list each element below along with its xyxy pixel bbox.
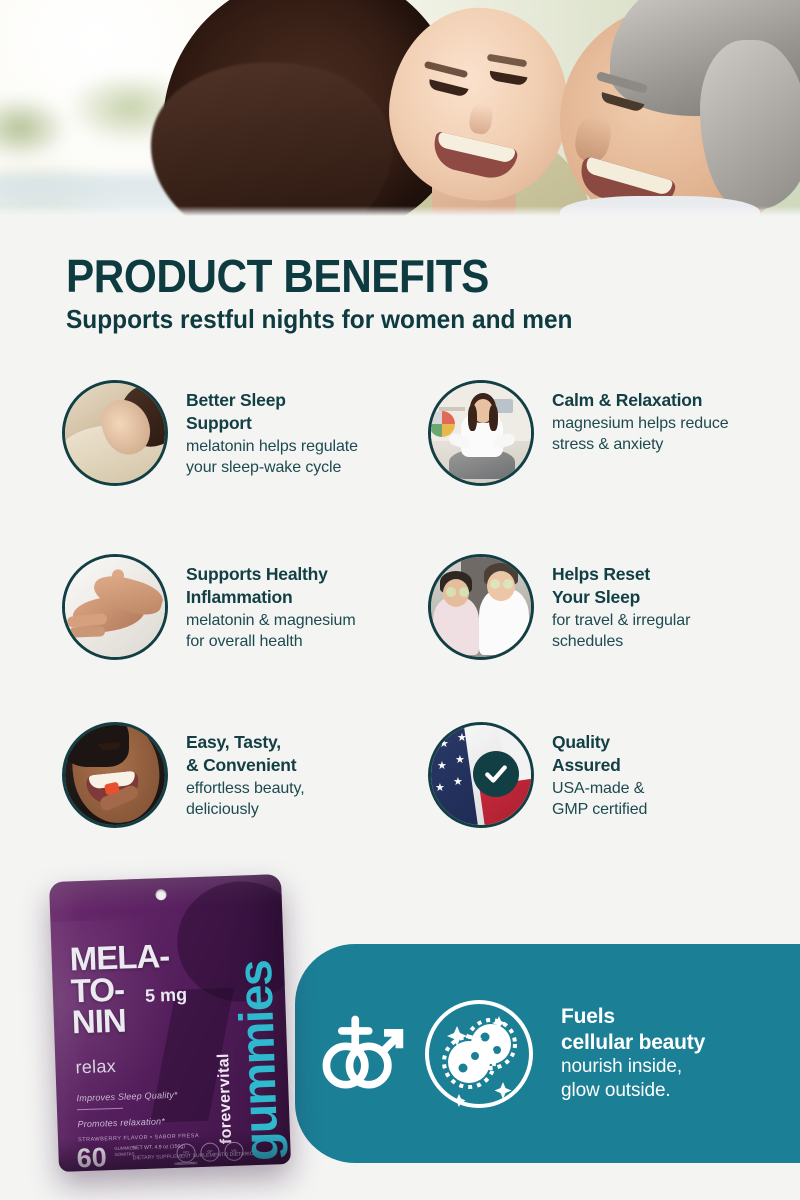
benefits-row-2: Supports Healthy Inflammation melatonin …	[0, 530, 800, 680]
flag-star: ★	[439, 739, 449, 750]
benefit-desc-line-1: for travel & irregular	[552, 610, 690, 631]
cellular-beauty-banner: Fuels cellular beauty nourish inside, gl…	[295, 944, 800, 1163]
flag-star: ★	[453, 777, 463, 788]
product-claim-2: Promotes relaxation*	[77, 1116, 165, 1129]
banner-line-4: glow outside.	[561, 1079, 705, 1103]
benefit-title-line-1: Easy, Tasty,	[186, 731, 305, 754]
melatonin-gummies-pouch: MELA- TO- NIN 5 mg relax Improves Sleep …	[49, 874, 291, 1172]
cucumber-slice-1	[446, 587, 456, 597]
product-benefits-infographic: PRODUCT BENEFITS Supports restful nights…	[0, 0, 800, 1200]
product-descriptor: relax	[75, 1056, 116, 1078]
benefit-title: Supports Healthy Inflammation	[186, 563, 356, 609]
benefit-text-block: Easy, Tasty, & Convenient effortless bea…	[186, 722, 305, 821]
benefit-title: Better Sleep Support	[186, 389, 358, 435]
banner-line-2: cellular beauty	[561, 1030, 705, 1056]
benefit-title-line-1: Better Sleep	[186, 389, 358, 412]
two-women-cucumber-photo	[431, 557, 531, 657]
clasped-hands-photo	[65, 557, 165, 657]
benefits-row-3: Easy, Tasty, & Convenient effortless bea…	[0, 680, 800, 830]
benefit-text-block: Quality Assured USA-made & GMP certified	[552, 722, 647, 821]
hero-bottom-fade	[0, 206, 800, 216]
product-dosage: 5 mg	[145, 984, 188, 1006]
benefit-image-woman-eating-gummy	[62, 722, 168, 828]
benefit-image-meditating-woman	[428, 380, 534, 486]
benefit-text-block: Supports Healthy Inflammation melatonin …	[186, 554, 356, 653]
benefits-row-1: Better Sleep Support melatonin helps reg…	[0, 380, 800, 530]
benefit-title-line-2: Assured	[552, 754, 647, 777]
benefit-image-sleeping-woman	[62, 380, 168, 486]
flag-star: ★	[433, 803, 443, 814]
benefit-image-clasped-hands	[62, 554, 168, 660]
benefit-description: effortless beauty, deliciously	[186, 778, 305, 821]
usa-flag-checkmark-badge: ★ ★ ★ ★ ★ ★ ★	[431, 725, 531, 825]
pouch-bottom-shadow	[58, 1130, 291, 1172]
benefit-image-two-women	[428, 554, 534, 660]
flag-star: ★	[437, 761, 447, 772]
product-name-line-3: NIN	[71, 1003, 192, 1039]
benefit-desc-line-2: for overall health	[186, 631, 356, 652]
benefit-desc-line-1: melatonin & magnesium	[186, 610, 356, 631]
product-package: MELA- TO- NIN 5 mg relax Improves Sleep …	[48, 872, 298, 1172]
benefit-title-line-2: Support	[186, 412, 358, 435]
page-subtitle: Supports restful nights for women and me…	[66, 305, 572, 335]
benefit-title-line-1: Supports Healthy	[186, 563, 356, 586]
benefit-title-line-2: & Convenient	[186, 754, 305, 777]
man-hair-side	[700, 40, 800, 210]
benefit-desc-line-2: your sleep-wake cycle	[186, 457, 358, 478]
flag-star: ★	[457, 733, 467, 744]
benefit-desc-line-2: GMP certified	[552, 799, 647, 820]
banner-line-1: Fuels	[561, 1004, 705, 1030]
meditate-hair-left	[468, 405, 477, 431]
hero-photo-couple	[0, 0, 800, 216]
benefit-item-quality-assured: ★ ★ ★ ★ ★ ★ ★ Quality A	[428, 722, 788, 828]
male-female-symbol-icon	[313, 1006, 409, 1102]
benefit-desc-line-1: magnesium helps reduce	[552, 413, 729, 434]
benefit-description: for travel & irregular schedules	[552, 610, 690, 653]
meditating-woman-photo	[431, 383, 531, 483]
benefit-desc-line-2: stress & anxiety	[552, 434, 729, 455]
benefit-description: melatonin & magnesium for overall health	[186, 610, 356, 653]
benefit-title-line-2: Inflammation	[186, 586, 356, 609]
benefit-title-line-1: Helps Reset	[552, 563, 690, 586]
benefit-description: melatonin helps regulate your sleep-wake…	[186, 436, 358, 479]
woman-eating-gummy-photo	[65, 725, 165, 825]
benefit-item-easy-tasty-convenient: Easy, Tasty, & Convenient effortless bea…	[62, 722, 422, 828]
benefit-desc-line-1: effortless beauty,	[186, 778, 305, 799]
benefit-title-line-2: Your Sleep	[552, 586, 690, 609]
benefit-title: Quality Assured	[552, 731, 647, 777]
banner-line-3: nourish inside,	[561, 1055, 705, 1079]
benefit-desc-line-2: deliciously	[186, 799, 305, 820]
flag-star: ★	[455, 755, 465, 766]
benefit-desc-line-2: schedules	[552, 631, 690, 652]
benefit-text-block: Helps Reset Your Sleep for travel & irre…	[552, 554, 690, 653]
benefit-item-supports-healthy-inflammation: Supports Healthy Inflammation melatonin …	[62, 554, 422, 660]
page-title: PRODUCT BENEFITS	[66, 253, 489, 299]
benefit-item-calm-relaxation: Calm & Relaxation magnesium helps reduce…	[428, 380, 788, 486]
benefit-description: magnesium helps reduce stress & anxiety	[552, 413, 729, 456]
benefit-title-line-1: Quality	[552, 731, 647, 754]
cucumber-slice-4	[503, 579, 513, 589]
cucumber-slice-3	[490, 579, 500, 589]
benefit-description: USA-made & GMP certified	[552, 778, 647, 821]
benefit-desc-line-1: USA-made &	[552, 778, 647, 799]
benefit-title: Easy, Tasty, & Convenient	[186, 731, 305, 777]
benefit-text-block: Calm & Relaxation magnesium helps reduce…	[552, 380, 729, 456]
benefit-text-block: Better Sleep Support melatonin helps reg…	[186, 380, 358, 479]
benefit-item-better-sleep-support: Better Sleep Support melatonin helps reg…	[62, 380, 422, 486]
meditate-hair-right	[489, 405, 498, 431]
benefit-image-usa-flag-badge: ★ ★ ★ ★ ★ ★ ★	[428, 722, 534, 828]
sleeping-woman-photo	[65, 383, 165, 483]
benefit-item-helps-reset-your-sleep: Helps Reset Your Sleep for travel & irre…	[428, 554, 788, 660]
benefit-title: Helps Reset Your Sleep	[552, 563, 690, 609]
banner-text-block: Fuels cellular beauty nourish inside, gl…	[561, 1004, 705, 1103]
cucumber-slice-2	[459, 587, 469, 597]
cellular-sparkle-icon	[415, 990, 543, 1118]
meditate-color-object	[429, 411, 455, 437]
benefit-title: Calm & Relaxation	[552, 389, 729, 412]
benefit-desc-line-1: melatonin helps regulate	[186, 436, 358, 457]
product-name-line-1: MELA-	[69, 939, 190, 975]
benefits-grid: Better Sleep Support melatonin helps reg…	[0, 380, 800, 830]
checkmark-icon	[473, 751, 519, 797]
finger-two	[69, 626, 105, 637]
benefit-title-line-1: Calm & Relaxation	[552, 389, 729, 412]
flag-star: ★	[435, 783, 445, 794]
